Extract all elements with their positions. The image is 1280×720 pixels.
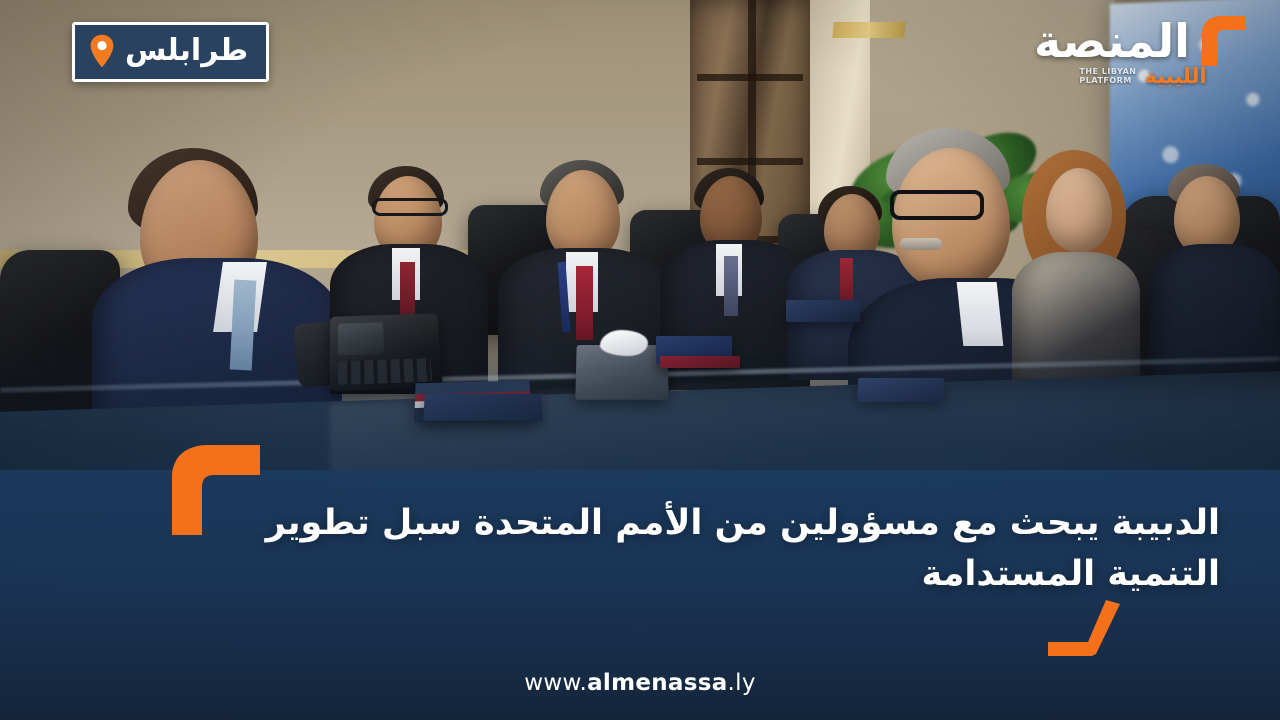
headline-line-2: التنمية المستدامة [60, 549, 1220, 600]
gold-trim [832, 22, 906, 38]
brand-subtitle-ar: الليبية [1144, 64, 1206, 88]
headline-line-1: الدبيبة يبحث مع مسؤولين من الأمم المتحدة… [60, 498, 1220, 549]
orange-r-mark-icon [1194, 14, 1252, 70]
location-label: طرابلس [125, 36, 248, 66]
orange-angle-mark-icon [1046, 598, 1128, 658]
headline: الدبيبة يبحث مع مسؤولين من الأمم المتحدة… [60, 498, 1220, 600]
brand-logo[interactable]: المنصة THE LIBYAN PLATFORM الليبية [1028, 14, 1258, 88]
document-folder [786, 300, 860, 322]
brand-subtitle-en: THE LIBYAN PLATFORM [1079, 67, 1136, 85]
website-url[interactable]: www.almenassa.ly [0, 670, 1280, 696]
brand-name: المنصة [1034, 20, 1190, 64]
news-card: طرابلس المنصة THE LIBYAN PLATFORM الليبي… [0, 0, 1280, 720]
url-prefix: www. [524, 670, 587, 696]
location-badge[interactable]: طرابلس [72, 22, 269, 82]
eyeglasses [890, 190, 984, 220]
url-brand: almenassa [587, 670, 727, 696]
map-pin-icon [89, 34, 115, 68]
url-tld: .ly [728, 670, 756, 696]
